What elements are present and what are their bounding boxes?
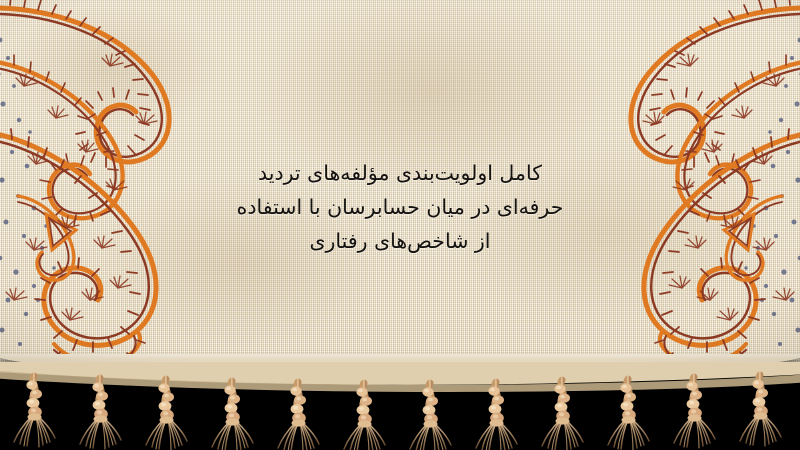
tassel-fringe [0, 362, 800, 450]
slide-title: کامل اولویت‌بندی مؤلفه‌های تردید حرفه‌ای… [165, 156, 635, 258]
termeh-fabric-panel: کامل اولویت‌بندی مؤلفه‌های تردید حرفه‌ای… [0, 0, 800, 376]
termeh-title-slide: کامل اولویت‌بندی مؤلفه‌های تردید حرفه‌ای… [0, 0, 800, 450]
